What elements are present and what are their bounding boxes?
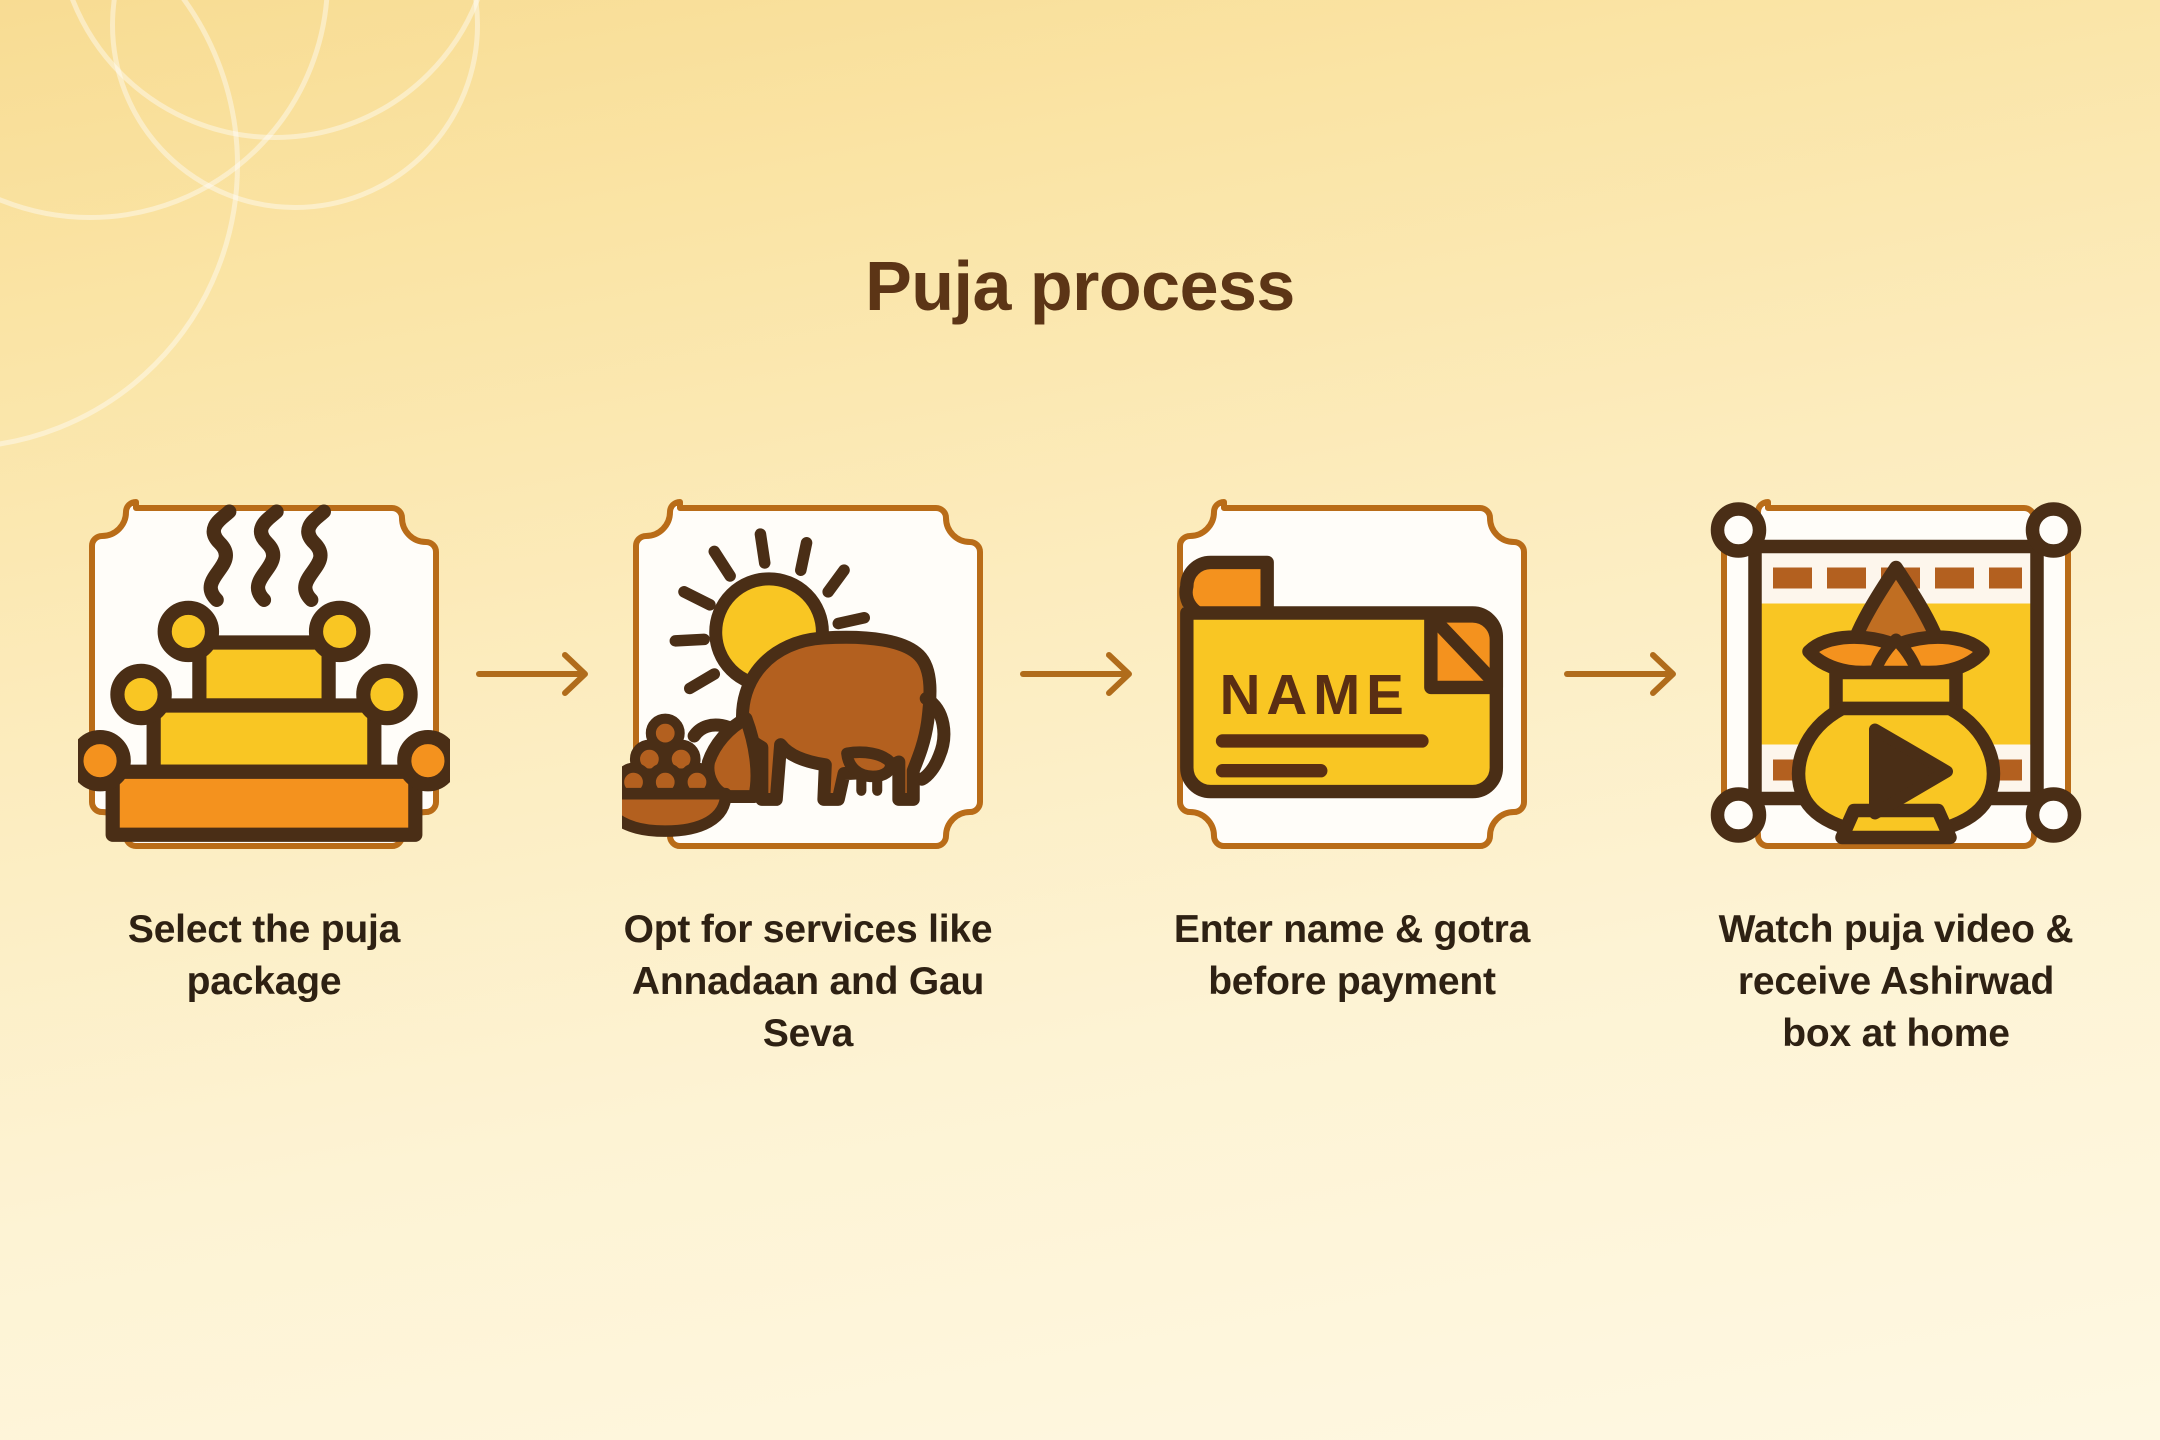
name-tag-icon: NAME bbox=[1166, 488, 1538, 860]
page-title: Puja process bbox=[0, 246, 2160, 326]
process-step-3: NAME Enter name & gotra before payment bbox=[1166, 488, 1538, 1008]
step-2-caption: Opt for services like Annadaan and Gau S… bbox=[622, 904, 994, 1060]
decorative-circle-2 bbox=[55, 0, 495, 140]
process-step-1: Select the puja package bbox=[78, 488, 450, 1008]
puja-video-kalash-icon bbox=[1710, 488, 2082, 860]
step-4-caption: Watch puja video & receive Ashirwad box … bbox=[1710, 904, 2082, 1060]
havan-kund-icon bbox=[78, 488, 450, 860]
cow-with-sun-icon bbox=[622, 488, 994, 860]
step-2-icon-card[interactable] bbox=[622, 488, 994, 860]
puja-process-infographic: Puja process bbox=[0, 0, 2160, 1440]
step-3-icon-card[interactable]: NAME bbox=[1166, 488, 1538, 860]
process-flow: Select the puja package bbox=[78, 488, 2082, 1060]
decorative-circle-4 bbox=[110, 0, 480, 210]
process-step-2: Opt for services like Annadaan and Gau S… bbox=[622, 488, 994, 1060]
step-3-caption: Enter name & gotra before payment bbox=[1166, 904, 1538, 1008]
step-1-caption: Select the puja package bbox=[78, 904, 450, 1008]
connector-arrow-3 bbox=[1560, 488, 1688, 860]
svg-text:NAME: NAME bbox=[1220, 663, 1410, 726]
process-step-4: Watch puja video & receive Ashirwad box … bbox=[1710, 488, 2082, 1060]
step-4-icon-card[interactable] bbox=[1710, 488, 2082, 860]
decorative-circle-3 bbox=[0, 0, 240, 450]
connector-arrow-2 bbox=[1016, 488, 1144, 860]
connector-arrow-1 bbox=[472, 488, 600, 860]
decorative-circle-1 bbox=[0, 0, 330, 220]
step-1-icon-card[interactable] bbox=[78, 488, 450, 860]
